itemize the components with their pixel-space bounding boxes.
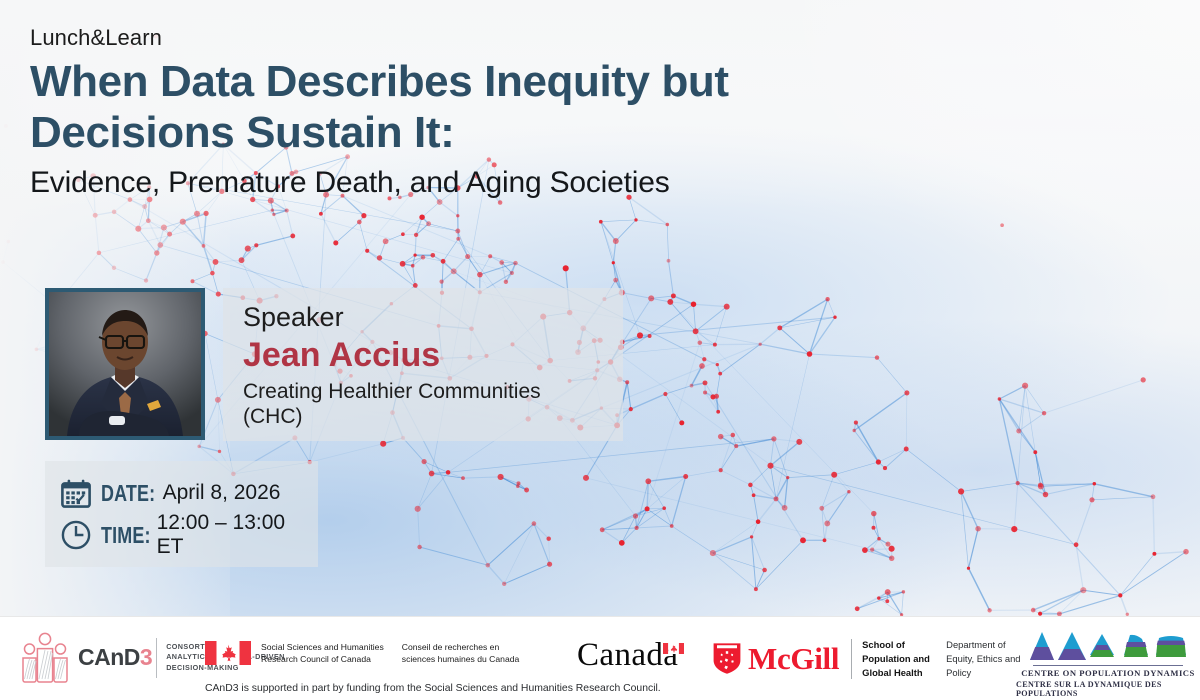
speaker-label: Speaker [243,302,605,333]
mcgill-unit-line2: Population and [862,652,936,666]
cand3-figures-icon [14,627,76,689]
cand3-wordmark-accent: 3 [140,644,152,670]
time-label: TIME: [101,522,151,549]
speaker-info-panel: Speaker Jean Accius Creating Healthier C… [223,288,623,441]
mcgill-unit-line3: Global Health [862,666,936,680]
detail-row-time: TIME: 12:00 – 13:00 ET [61,514,304,556]
cand3-wordmark-main: CAnD [78,644,140,670]
sponsor-footer: CAnD3 CONSORTIUM ON ANALYTICS FOR DATA-D… [0,616,1200,700]
sshrc-french-line1: Conseil de recherches en [402,641,520,653]
cpd-peaks-icon [1028,631,1188,662]
divider [1033,665,1183,666]
speaker-name: Jean Accius [243,335,605,376]
divider [156,638,157,678]
sshrc-english-line2: Research Council of Canada [261,653,384,665]
sshrc-french: Conseil de recherches en sciences humain… [402,641,520,666]
headline-block: Lunch&Learn When Data Describes Inequity… [30,26,870,200]
portrait-illustration [49,292,201,436]
mcgill-school-unit: School of Population and Global Health [862,638,936,680]
cand3-wordmark: CAnD3 [78,644,152,671]
date-label: DATE: [101,480,155,507]
sshrc-english-line1: Social Sciences and Humanities [261,641,384,653]
canada-flag-icon [205,641,251,665]
logo-mcgill: McGill School of Population and Global H… [712,638,1034,680]
avatar [49,292,201,436]
calendar-icon [61,479,101,508]
detail-row-date: DATE: April 8, 2026 [61,472,304,514]
mcgill-name: McGill [748,641,839,677]
clock-icon [61,520,101,550]
mcgill-shield-icon [712,642,742,675]
divider [851,639,852,679]
logo-canada-wordmark: Canada [577,641,684,671]
sshrc-french-line2: sciences humaines du Canada [402,653,520,665]
page-title: When Data Describes Inequity but Decisio… [30,56,870,158]
page-subtitle: Evidence, Premature Death, and Aging Soc… [30,166,870,200]
speaker-photo-frame [45,288,205,440]
cpd-name-french: CENTRE SUR LA DYNAMIQUE DES POPULATIONS [1016,680,1200,698]
event-details-panel: DATE: April 8, 2026 TIME: 12:00 – 13:00 … [45,461,318,567]
event-series-kicker: Lunch&Learn [30,26,870,50]
speaker-affiliation: Creating Healthier Communities (CHC) [243,379,605,429]
sshrc-english: Social Sciences and Humanities Research … [261,641,384,666]
logo-sshrc: Social Sciences and Humanities Research … [205,641,519,666]
time-value: 12:00 – 13:00 ET [157,511,304,559]
cpd-name-english: CENTRE ON POPULATION DYNAMICS [1021,668,1195,678]
mcgill-unit-line1: School of [862,638,936,652]
event-poster: Lunch&Learn When Data Describes Inequity… [0,0,1200,700]
funding-support-note: CAnD3 is supported in part by funding fr… [205,683,661,694]
logo-centre-population-dynamics: CENTRE ON POPULATION DYNAMICS CENTRE SUR… [1016,631,1200,700]
speaker-block: Speaker Jean Accius Creating Healthier C… [45,288,623,441]
date-value: April 8, 2026 [163,481,281,505]
canada-flag-small-icon [663,641,684,652]
